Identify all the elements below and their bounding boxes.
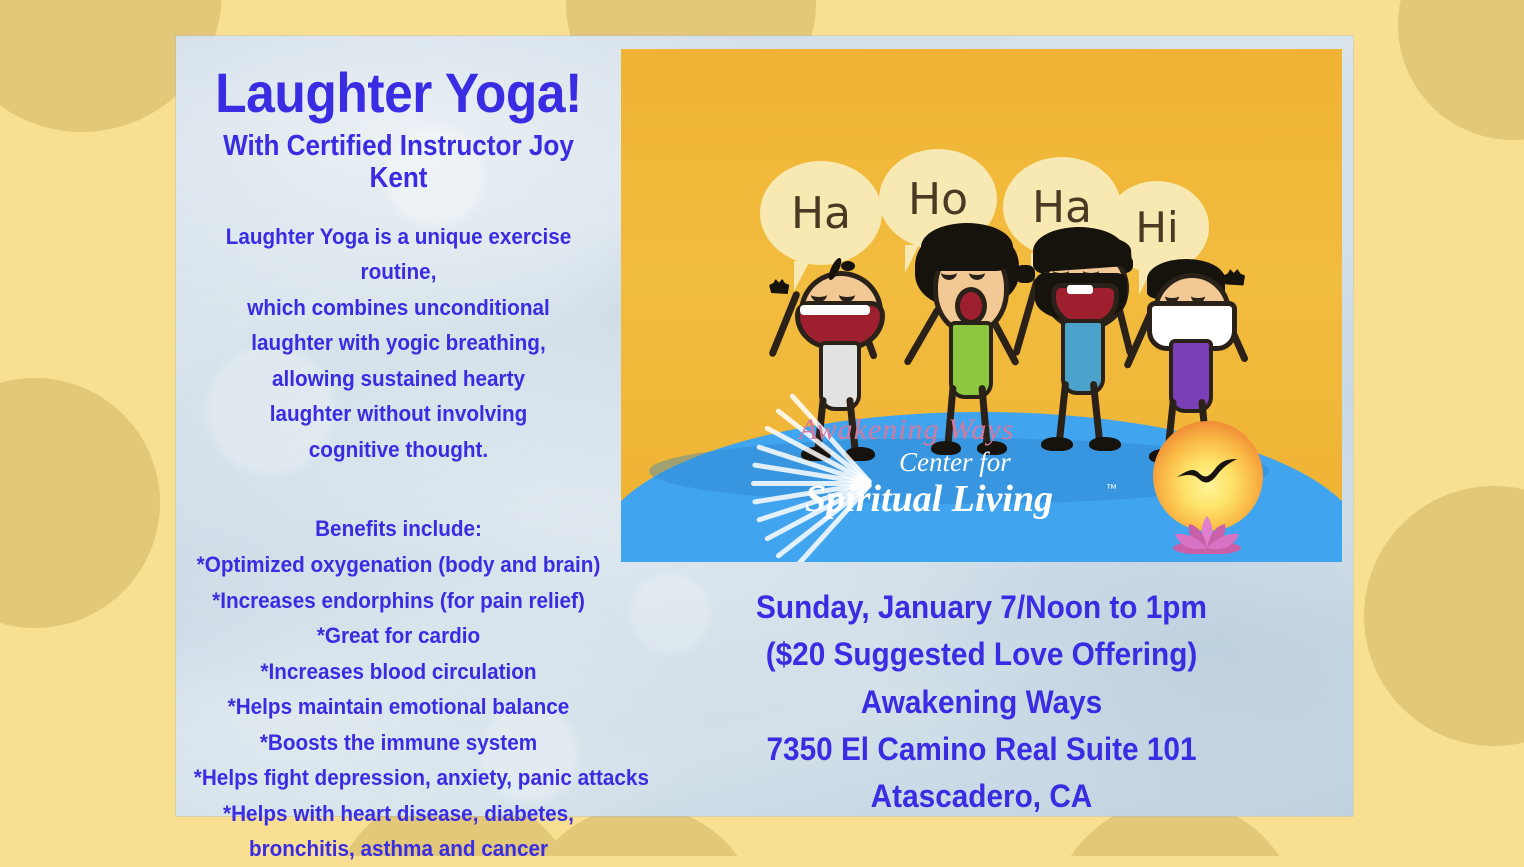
intro-paragraph: Laughter Yoga is a unique exercise routi… [194, 219, 603, 468]
instructor-subtitle: With Certified Instructor Joy Kent [198, 131, 599, 195]
eye-left [811, 287, 827, 302]
teeth [800, 305, 870, 315]
ear-left [917, 259, 935, 279]
logo-line-awakening-ways: Awakening Ways [799, 413, 1014, 447]
logo-line-spiritual-living: Spiritual Living [805, 477, 1053, 521]
hand-left [769, 279, 791, 299]
laughter-yoga-illustration: Ha Ho Ha Hi [621, 49, 1342, 562]
event-city-state: Atascadero, CA [646, 773, 1317, 820]
event-date-time: Sunday, January 7/Noon to 1pm [646, 584, 1317, 631]
awakening-ways-logo: Awakening Ways Center for Spiritual Livi… [751, 411, 1271, 556]
background-dot [0, 378, 160, 628]
lotus-icon [1171, 514, 1243, 554]
teeth [1067, 285, 1093, 294]
intro-line: laughter with yogic breathing, [194, 325, 603, 361]
background-dot [1364, 486, 1524, 746]
list-item: *Optimized oxygenation (body and brain) [194, 547, 603, 583]
poster-right-column: Ha Ho Ha Hi [621, 36, 1353, 816]
event-venue: Awakening Ways [646, 679, 1317, 726]
page-title: Laughter Yoga! [194, 64, 603, 123]
intro-line: laughter without involving [194, 396, 603, 432]
list-item: *Helps maintain emotional balance [194, 689, 603, 725]
intro-line: allowing sustained hearty [194, 361, 603, 397]
list-item: bronchitis, asthma and cancer [194, 831, 603, 867]
bird-icon [1175, 457, 1241, 487]
list-item: *Increases blood circulation [194, 654, 603, 690]
hand-right [1223, 269, 1247, 291]
list-item: *Boosts the immune system [194, 725, 603, 761]
benefits-list: *Optimized oxygenation (body and brain) … [194, 547, 603, 867]
intro-line: Laughter Yoga is a unique exercise routi… [194, 219, 603, 290]
background-dot [1398, 0, 1524, 140]
list-item: *Increases endorphins (for pain relief) [194, 583, 603, 619]
event-street-address: 7350 El Camino Real Suite 101 [646, 726, 1317, 773]
intro-line: which combines unconditional [194, 290, 603, 326]
event-offering: ($20 Suggested Love Offering) [646, 631, 1317, 678]
speech-bubble-text: Ha [791, 188, 851, 239]
event-details: Sunday, January 7/Noon to 1pm ($20 Sugge… [646, 584, 1317, 821]
arm-left [903, 306, 942, 367]
flyer-poster: Laughter Yoga! With Certified Instructor… [176, 36, 1353, 816]
singing-mouth [955, 287, 987, 325]
list-item: *Helps fight depression, anxiety, panic … [194, 760, 603, 796]
eye-right [969, 265, 985, 280]
poster-left-column: Laughter Yoga! With Certified Instructor… [176, 36, 621, 816]
hair-top [921, 223, 1013, 271]
eye-right [839, 287, 855, 302]
list-item: *Helps with heart disease, diabetes, [194, 796, 603, 832]
hand-left [1015, 265, 1035, 283]
logo-line-center-for: Center for [899, 447, 1011, 478]
eye-left [941, 265, 957, 280]
logo-trademark: ™ [1106, 483, 1117, 495]
list-item: *Great for cardio [194, 618, 603, 654]
hair-curl [841, 261, 855, 271]
benefits-heading: Benefits include: [194, 511, 603, 547]
intro-line: cognitive thought. [194, 432, 603, 468]
